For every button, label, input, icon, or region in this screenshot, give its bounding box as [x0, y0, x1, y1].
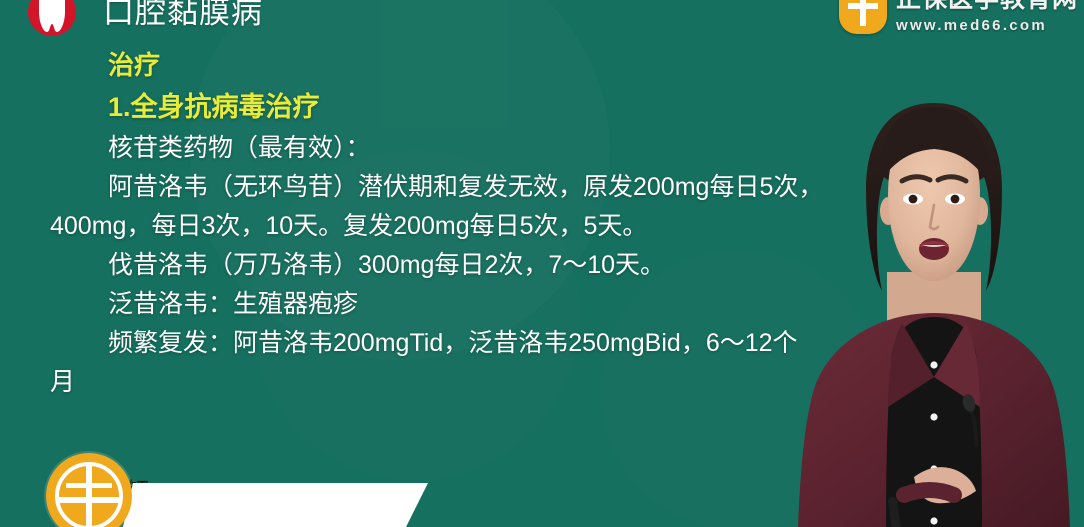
name-plate-background	[123, 483, 428, 527]
slide-line: 伐昔洛韦（万乃洛韦）300mg每日2次，7～10天。	[0, 246, 840, 285]
slide-line: 频繁复发：阿昔洛韦200mgTid，泛昔洛韦250mgBid，6～12个	[0, 324, 840, 363]
instructor-name-banner: 涵 钰 HAN YU	[0, 467, 470, 527]
presenter-hair	[866, 103, 1002, 291]
cross-shield-icon	[839, 0, 887, 34]
slide-line: 400mg，每日3次，10天。复发200mg每日5次，5天。	[0, 207, 840, 246]
video-lecture-frame: 口腔黏膜病 正保医学教育网 www.med66.com 治疗 1.全身抗病毒治疗…	[0, 0, 1084, 527]
slide-header: 口腔黏膜病 正保医学教育网 www.med66.com	[0, 0, 1084, 42]
slide-content: 治疗 1.全身抗病毒治疗 核苷类药物（最有效）： 阿昔洛韦（无环鸟苷）潜伏期和复…	[0, 46, 840, 402]
site-watermark-url: www.med66.com	[896, 18, 1078, 33]
slide-line: 月	[0, 363, 840, 402]
slide-line: 核苷类药物（最有效）：	[0, 129, 840, 168]
slide-line: 泛昔洛韦：生殖器疱疹	[0, 285, 840, 324]
site-watermark: 正保医学教育网 www.med66.com	[839, 0, 1078, 34]
site-watermark-name: 正保医学教育网	[896, 0, 1078, 12]
presenter-shirt	[886, 317, 982, 527]
slide-line: 阿昔洛韦（无环鸟苷）潜伏期和复发无效，原发200mg每日5次，	[0, 168, 840, 207]
cross-circle-icon	[46, 453, 132, 527]
tooth-icon	[22, 0, 82, 44]
slide-line: 1.全身抗病毒治疗	[0, 85, 840, 129]
presenter-face	[888, 125, 980, 281]
slide-line: 治疗	[0, 46, 840, 85]
page-title: 口腔黏膜病	[103, 0, 263, 34]
